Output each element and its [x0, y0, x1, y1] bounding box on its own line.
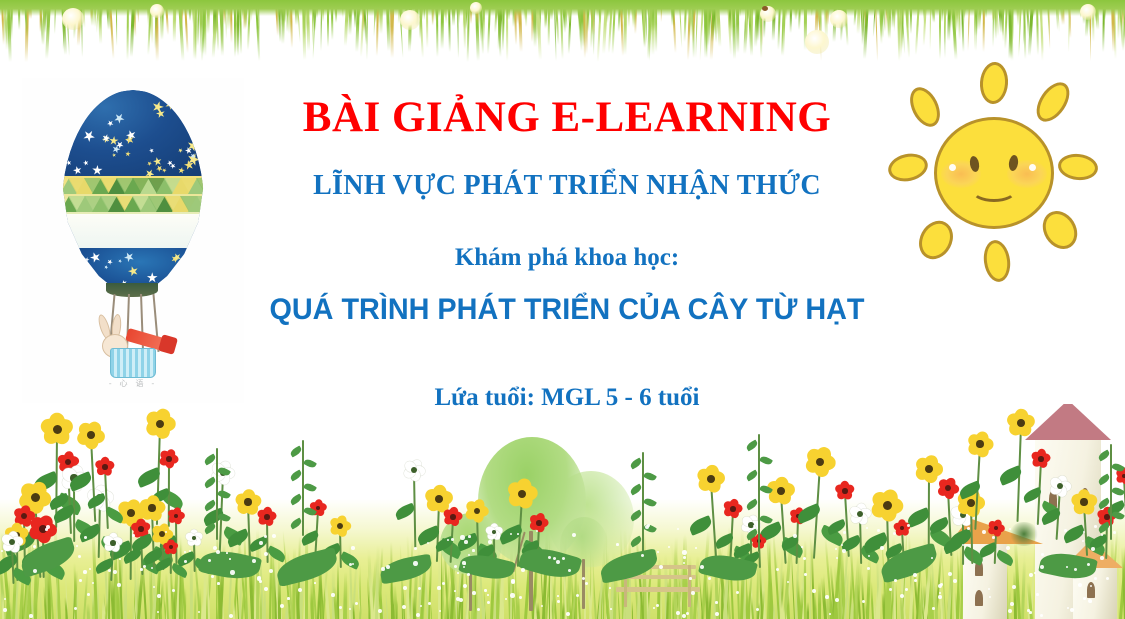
- grass-speckle: [229, 614, 233, 618]
- flower-white: [186, 530, 202, 546]
- grass-speckle: [92, 582, 94, 584]
- grass-speckle: [143, 565, 146, 568]
- flower-red: [96, 458, 114, 476]
- balloon-star: [170, 271, 187, 288]
- grass-speckle: [1036, 593, 1039, 596]
- flower-center: [148, 504, 155, 511]
- grass-speckle: [1100, 556, 1104, 560]
- grass-speckle: [1064, 529, 1067, 532]
- sun-face: [934, 117, 1054, 229]
- grass-speckle: [157, 611, 159, 613]
- balloon-star: [196, 261, 204, 276]
- balloon-star: [198, 252, 204, 259]
- grass-speckle: [1082, 540, 1084, 542]
- bokeh-light: [150, 4, 164, 18]
- flower-center: [102, 464, 107, 469]
- hot-air-balloon-image: - 心 语 -: [22, 78, 244, 403]
- sun-ray: [1036, 205, 1084, 256]
- flower-red: [1032, 450, 1050, 468]
- flower-center: [127, 509, 135, 517]
- topic-main-title: QUÁ TRÌNH PHÁT TRIỂN CỦA CÂY TỪ HẠT: [265, 295, 870, 325]
- flower-red: [168, 508, 184, 524]
- topic-label: Khám phá khoa học:: [252, 245, 882, 270]
- grass-speckle: [213, 546, 217, 550]
- grass-speckle: [3, 608, 7, 612]
- grass-speckle: [87, 593, 90, 596]
- age-group-label: Lứa tuổi: MGL 5 - 6 tuổi: [252, 385, 882, 410]
- flower-red: [938, 478, 958, 498]
- flower-red: [164, 540, 178, 554]
- grass-speckle: [184, 551, 186, 553]
- grass-speckle: [967, 527, 970, 530]
- balloon-star: [197, 279, 204, 290]
- balloon-triangle: [196, 196, 204, 212]
- flower-center: [110, 540, 115, 545]
- grass-speckle: [230, 570, 235, 575]
- grass-speckle: [4, 598, 6, 600]
- flower-yellow: [140, 496, 164, 520]
- flower-center: [53, 425, 62, 434]
- flower-center: [138, 526, 143, 531]
- grass-speckle: [1066, 566, 1068, 568]
- grass-speckle: [1113, 531, 1116, 534]
- grass-speckle: [211, 575, 214, 578]
- grass-speckle: [938, 595, 942, 599]
- grass-speckle: [184, 560, 187, 563]
- grass-speckle: [889, 588, 892, 591]
- sun-highlight: [1029, 164, 1036, 171]
- sprig-leaf: [203, 453, 217, 465]
- flower-center: [1017, 419, 1025, 427]
- sun-ray: [1030, 76, 1076, 127]
- balloon-triangle: [196, 178, 204, 194]
- page-title: BÀI GIẢNG E-LEARNING: [252, 96, 882, 139]
- sun-highlight: [949, 164, 956, 171]
- flower-red: [988, 520, 1004, 536]
- house-window: [975, 590, 983, 606]
- slide-canvas: - 心 语 -: [0, 0, 1125, 619]
- grass-speckle: [992, 536, 995, 539]
- flower-white: [104, 534, 122, 552]
- grass-speckle: [113, 570, 117, 574]
- sprig-leaf: [203, 476, 217, 488]
- flower-center: [244, 498, 251, 505]
- sun-smile: [971, 178, 1017, 202]
- balloon-envelope: [62, 90, 204, 290]
- sun-ray: [979, 61, 1010, 105]
- grass-speckle: [165, 531, 167, 533]
- grass-speckle: [16, 539, 20, 543]
- title-text-block: BÀI GIẢNG E-LEARNING LĨNH VỰC PHÁT TRIỂN…: [252, 0, 882, 619]
- balloon-star: [176, 91, 187, 102]
- grass-speckle: [1009, 528, 1011, 530]
- flower-yellow: [78, 422, 104, 448]
- grass-speckle: [913, 573, 917, 577]
- grass-speckle: [932, 607, 935, 610]
- sun-ray: [886, 150, 931, 185]
- grass-speckle: [1029, 573, 1033, 577]
- village-bush: [1009, 522, 1039, 546]
- grass-speckle: [153, 586, 155, 588]
- grass-speckle: [132, 534, 135, 537]
- flower-white: [1050, 476, 1070, 496]
- grass-speckle: [172, 589, 175, 592]
- grass-speckle: [45, 528, 48, 531]
- grass-speckle: [914, 579, 917, 582]
- grass-speckle: [157, 594, 161, 598]
- grass-speckle: [217, 582, 220, 585]
- grass-speckle: [117, 583, 121, 587]
- flower-center: [1122, 474, 1125, 479]
- flower-red: [30, 516, 56, 542]
- flower-yellow: [42, 414, 72, 444]
- flower-center: [21, 513, 27, 519]
- balloon-signature-mark: - 心 语 -: [22, 378, 244, 389]
- grass-blade: [86, 603, 89, 619]
- flower-yellow: [1072, 490, 1096, 514]
- grass-speckle: [948, 572, 952, 576]
- flower-center: [1080, 498, 1087, 505]
- tower-roof-pink: [1025, 404, 1111, 440]
- grass-speckle: [1091, 547, 1095, 551]
- grass-speckle: [1101, 534, 1103, 536]
- sun-ray: [981, 238, 1013, 283]
- grass-speckle: [229, 558, 231, 560]
- sun-ray: [912, 215, 959, 265]
- grass-speckle: [989, 596, 991, 598]
- grass-speckle: [79, 579, 82, 582]
- grass-speckle: [33, 569, 37, 573]
- flower-center: [87, 431, 95, 439]
- grass-speckle: [216, 550, 220, 554]
- grass-speckle: [83, 570, 87, 574]
- balloon-basket: [110, 348, 156, 378]
- flower-center: [9, 539, 15, 545]
- grass-speckle: [119, 558, 121, 560]
- flower-center: [925, 465, 933, 473]
- grass-speckle: [1, 550, 3, 552]
- flower-center: [1038, 456, 1043, 461]
- flower-yellow: [968, 432, 992, 456]
- smiling-sun-illustration: [872, 62, 1122, 292]
- balloon-band-white: [62, 214, 204, 248]
- flower-center: [166, 456, 171, 461]
- balloon-star: [62, 280, 72, 290]
- bokeh-light: [62, 8, 84, 30]
- grass-speckle: [33, 545, 36, 548]
- sun-ray: [904, 82, 946, 131]
- flower-red: [160, 450, 178, 468]
- grass-speckle: [931, 557, 933, 559]
- leafy-sprig: [1108, 444, 1114, 540]
- flower-center: [1057, 483, 1063, 489]
- grass-speckle: [982, 530, 986, 534]
- flower-center: [945, 485, 951, 491]
- flower-center: [976, 440, 983, 447]
- leafy-sprig: [214, 448, 220, 540]
- grass-speckle: [894, 579, 897, 582]
- grass-speckle: [1094, 525, 1097, 528]
- flower-yellow: [146, 410, 174, 438]
- grass-blade: [2, 593, 4, 619]
- grass-speckle: [1029, 611, 1032, 614]
- grass-speckle: [29, 614, 33, 618]
- bokeh-light: [1080, 4, 1096, 20]
- grass-speckle: [140, 568, 143, 571]
- flower-center: [883, 501, 892, 510]
- grass-speckle: [226, 552, 228, 554]
- subject-field: LĨNH VỰC PHÁT TRIỂN NHẬN THỨC: [252, 172, 882, 200]
- grass-speckle: [1034, 572, 1036, 574]
- flower-center: [967, 499, 975, 507]
- grass-speckle: [1083, 597, 1086, 600]
- balloon-star: [179, 268, 194, 283]
- flower-center: [31, 493, 40, 502]
- sun-ray: [1057, 152, 1099, 182]
- telescope-lens: [158, 334, 178, 355]
- balloon-star: [188, 108, 197, 117]
- flower-center: [65, 459, 71, 465]
- grass-speckle: [1010, 602, 1014, 606]
- grass-speckle: [84, 536, 87, 539]
- balloon-star: [75, 279, 82, 286]
- flower-yellow: [1008, 410, 1034, 436]
